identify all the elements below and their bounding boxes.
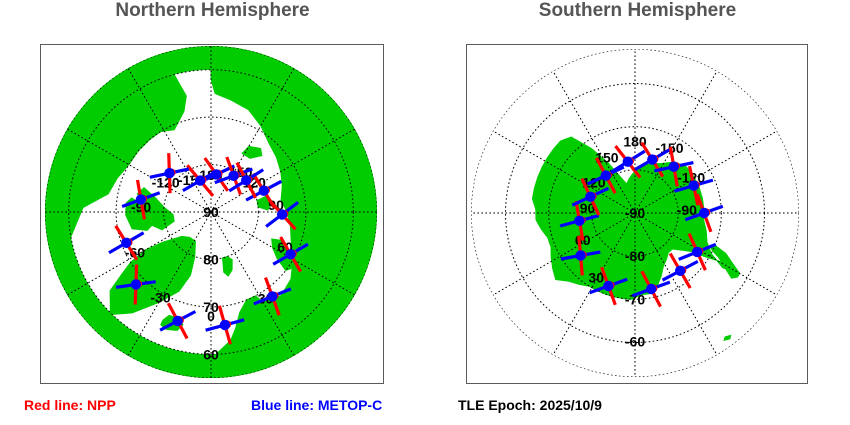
metop-position-dot (623, 157, 633, 167)
panel-title-northern: Northern Hemisphere (0, 0, 425, 22)
metop-position-dot (601, 170, 611, 180)
lon-label: 0 (207, 308, 215, 324)
lat-label: 60 (203, 346, 219, 362)
lat-label: 80 (203, 251, 219, 267)
legend-tle-epoch: TLE Epoch: 2025/10/9 (458, 397, 602, 413)
metop-position-dot (195, 175, 205, 185)
metop-position-dot (267, 291, 277, 301)
metop-position-dot (228, 171, 238, 181)
metop-position-dot (574, 216, 584, 226)
lat-label: 90 (203, 204, 219, 220)
legend-blue-line-metop-c: Blue line: METOP-C (251, 397, 382, 413)
legend: Red line: NPP Blue line: METOP-C TLE Epo… (0, 389, 850, 425)
metop-position-dot (285, 249, 295, 259)
map-southern-hemisphere: -90-80-70-60306090120150180-150-120-90 (467, 45, 806, 382)
metop-position-dot (585, 192, 595, 202)
lat-label: -60 (625, 334, 645, 350)
panel-northern-hemisphere: Northern Hemisphere 90807060030609012015… (0, 0, 425, 390)
panel-southern-hemisphere: Southern Hemisphere -90-80-70-6030609012… (425, 0, 850, 390)
panel-title-southern: Southern Hemisphere (425, 0, 850, 22)
metop-position-dot (277, 209, 287, 219)
metop-position-dot (603, 281, 613, 291)
metop-position-dot (164, 168, 174, 178)
metop-position-dot (699, 208, 709, 218)
legend-red-line-npp: Red line: NPP (24, 397, 116, 413)
figure-root: Northern Hemisphere 90807060030609012015… (0, 0, 850, 425)
lon-label: -30 (150, 290, 170, 306)
metop-position-dot (646, 284, 656, 294)
metop-position-dot (131, 279, 141, 289)
metop-position-dot (575, 250, 585, 260)
metop-position-dot (220, 320, 230, 330)
lat-label: -90 (625, 205, 645, 221)
metop-position-dot (173, 316, 183, 326)
lat-label: -80 (625, 248, 645, 264)
metop-position-dot (669, 162, 679, 172)
metop-position-dot (675, 266, 685, 276)
metop-position-dot (692, 247, 702, 257)
metop-position-dot (647, 154, 657, 164)
metop-position-dot (241, 175, 251, 185)
plot-frame-northern: 908070600306090120150180-150-120-90-60-3… (40, 44, 384, 384)
metop-position-dot (259, 186, 269, 196)
metop-position-dot (121, 238, 131, 248)
map-northern-hemisphere: 908070600306090120150180-150-120-90-60-3… (41, 45, 382, 382)
metop-position-dot (136, 194, 146, 204)
metop-position-dot (689, 180, 699, 190)
plot-frame-southern: -90-80-70-60306090120150180-150-120-90 (466, 44, 808, 384)
